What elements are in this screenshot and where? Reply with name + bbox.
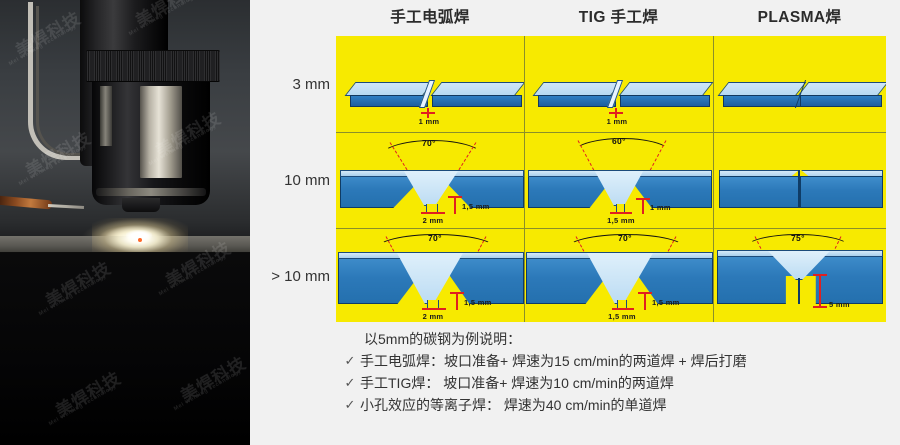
check-icon: ✓ [340, 372, 360, 394]
dimension-label-root: 1 mm [650, 203, 700, 212]
filler-wire-tip [48, 204, 84, 209]
cell-gt10mm-tig: 70° 1,5 mm 1,5 mm [524, 228, 713, 322]
dimension-label-gap: 2 mm [402, 216, 464, 225]
torch-nozzle-tip [122, 198, 160, 212]
photo-lower-scene [0, 253, 250, 445]
note-item-plasma: ✓ 小孔效应的等离子焊： 焊速为40 cm/min的单道焊 [340, 394, 900, 416]
note-item-manual-arc: ✓ 手工电弧焊：坡口准备+ 焊速为15 cm/min的两道焊 + 焊后打磨 [340, 350, 900, 372]
dimension-tick-root-top [813, 274, 827, 276]
notes-block: 以5mm的碳钢为例说明： ✓ 手工电弧焊：坡口准备+ 焊速为15 cm/min的… [340, 328, 900, 440]
plate-top-face-left [718, 82, 807, 96]
column-header-plasma: PLASMA焊 [713, 4, 886, 34]
cell-10mm-manual-arc: 70° 2 mm 1,5 mm [336, 132, 524, 228]
plate-top-face-left [533, 82, 622, 96]
plate-side-face-left [723, 95, 801, 107]
torch-knurled-ring [86, 50, 220, 82]
cell-10mm-tig: 60° 1,5 mm 1 mm [524, 132, 713, 228]
dimension-label-gap: 1,5 mm [588, 312, 656, 321]
dimension-tick-root-top [638, 292, 652, 294]
note-item-tig: ✓ 手工TIG焊： 坡口准备+ 焊速为10 cm/min的两道焊 [340, 372, 900, 394]
dimension-label-root: 1,5 mm [464, 298, 518, 307]
row-label-gt10mm: > 10 mm [248, 268, 330, 285]
joint-cell-grid: 1 mm 1 mm [336, 36, 886, 322]
plate-side-face-right [620, 95, 710, 107]
joint-preparation-table: 1 mm 1 mm [336, 36, 886, 322]
grid-vertical-line-2 [713, 36, 714, 322]
plate-side-face-left [350, 95, 428, 107]
plate-top-face-right [619, 82, 713, 96]
dimension-label-gap: 1 mm [398, 117, 460, 126]
plate-top-face-right [798, 82, 886, 96]
grid-horizontal-line-2 [336, 228, 886, 229]
angle-value: 70 [422, 138, 432, 148]
dimension-line-gap [422, 308, 446, 310]
angle-label: 75° [791, 233, 805, 243]
check-icon: ✓ [340, 350, 360, 372]
column-header-tig: TIG 手工焊 [524, 4, 713, 34]
row-label-3mm: 3 mm [248, 76, 330, 93]
root-seam [798, 278, 800, 304]
dimension-line-root [454, 196, 456, 214]
dimension-line-root [642, 198, 644, 214]
dimension-line-gap [610, 212, 632, 214]
note-item-text: 小孔效应的等离子焊： 焊速为40 cm/min的单道焊 [360, 394, 666, 416]
torch-nozzle-ring [96, 188, 206, 196]
dimension-line-root [644, 292, 646, 310]
cell-gt10mm-plasma: 75° 5 mm [713, 228, 886, 322]
dimension-label-root: 1,5 mm [652, 298, 708, 307]
degree-symbol: ° [622, 136, 626, 146]
angle-value: 70 [428, 233, 438, 243]
dimension-label-gap: 2 mm [402, 312, 464, 321]
column-headers: 手工电弧焊 TIG 手工焊 PLASMA焊 [336, 4, 886, 34]
note-item-text: 手工电弧焊：坡口准备+ 焊速为15 cm/min的两道焊 + 焊后打磨 [360, 350, 747, 372]
dimension-line-root [456, 292, 458, 310]
cell-3mm-plasma [713, 36, 886, 132]
dimension-tick-root-top [636, 198, 650, 200]
angle-label: 60° [612, 136, 626, 146]
row-labels: 3 mm 10 mm > 10 mm [248, 36, 334, 322]
photo-upper-scene [0, 0, 250, 253]
grid-horizontal-line-1 [336, 132, 886, 133]
note-item-text: 手工TIG焊： 坡口准备+ 焊速为10 cm/min的两道焊 [360, 372, 674, 394]
cell-10mm-plasma [713, 132, 886, 228]
row-label-10mm: 10 mm [248, 172, 330, 189]
angle-value: 75 [791, 233, 801, 243]
plate-top-face-left [345, 82, 434, 96]
joint-seam [798, 170, 800, 208]
plasma-welding-photo: 美焊科技 Mei Welding Technology 美焊科技 Mei Wel… [0, 0, 250, 445]
dimension-tick-root-top [450, 292, 464, 294]
angle-value: 60 [612, 136, 622, 146]
plate-side-face-left [538, 95, 616, 107]
dimension-line-root [819, 274, 821, 308]
cell-3mm-tig: 1 mm [524, 36, 713, 132]
check-icon: ✓ [340, 394, 360, 416]
dimension-tick-root-top [448, 196, 462, 198]
plate-side-face-right [800, 95, 882, 107]
cell-gt10mm-manual-arc: 70° 2 mm 1,5 mm [336, 228, 524, 322]
degree-symbol: ° [801, 233, 805, 243]
torch-chrome-strip-left [100, 86, 112, 146]
degree-symbol: ° [432, 138, 436, 148]
weld-spark [138, 238, 142, 242]
dimension-line-gap [421, 212, 445, 214]
base-metal-right [800, 176, 883, 208]
notes-title: 以5mm的碳钢为例说明： [364, 328, 900, 350]
degree-symbol: ° [438, 233, 442, 243]
page-root: 美焊科技 Mei Welding Technology 美焊科技 Mei Wel… [0, 0, 900, 445]
dimension-label-gap: 1,5 mm [588, 216, 654, 225]
dimension-label-root: 1,5 mm [462, 202, 516, 211]
cell-3mm-manual-arc: 1 mm [336, 36, 524, 132]
dimension-tick-root-bottom [813, 306, 827, 308]
filler-wire [0, 196, 52, 210]
dimension-line-gap [612, 308, 634, 310]
angle-label: 70° [422, 138, 436, 148]
dimension-label-gap: 1 mm [586, 117, 648, 126]
plate-side-face-right [432, 95, 522, 107]
dimension-label-root: 5 mm [829, 300, 879, 309]
plate-top-face-right [431, 82, 524, 96]
angle-label: 70° [428, 233, 442, 243]
base-metal-left [719, 176, 799, 208]
grid-vertical-line-1 [524, 36, 525, 322]
column-header-manual-arc: 手工电弧焊 [336, 4, 524, 34]
degree-symbol: ° [628, 233, 632, 243]
torch-chrome-label [140, 86, 182, 178]
angle-label: 70° [618, 233, 632, 243]
angle-value: 70 [618, 233, 628, 243]
